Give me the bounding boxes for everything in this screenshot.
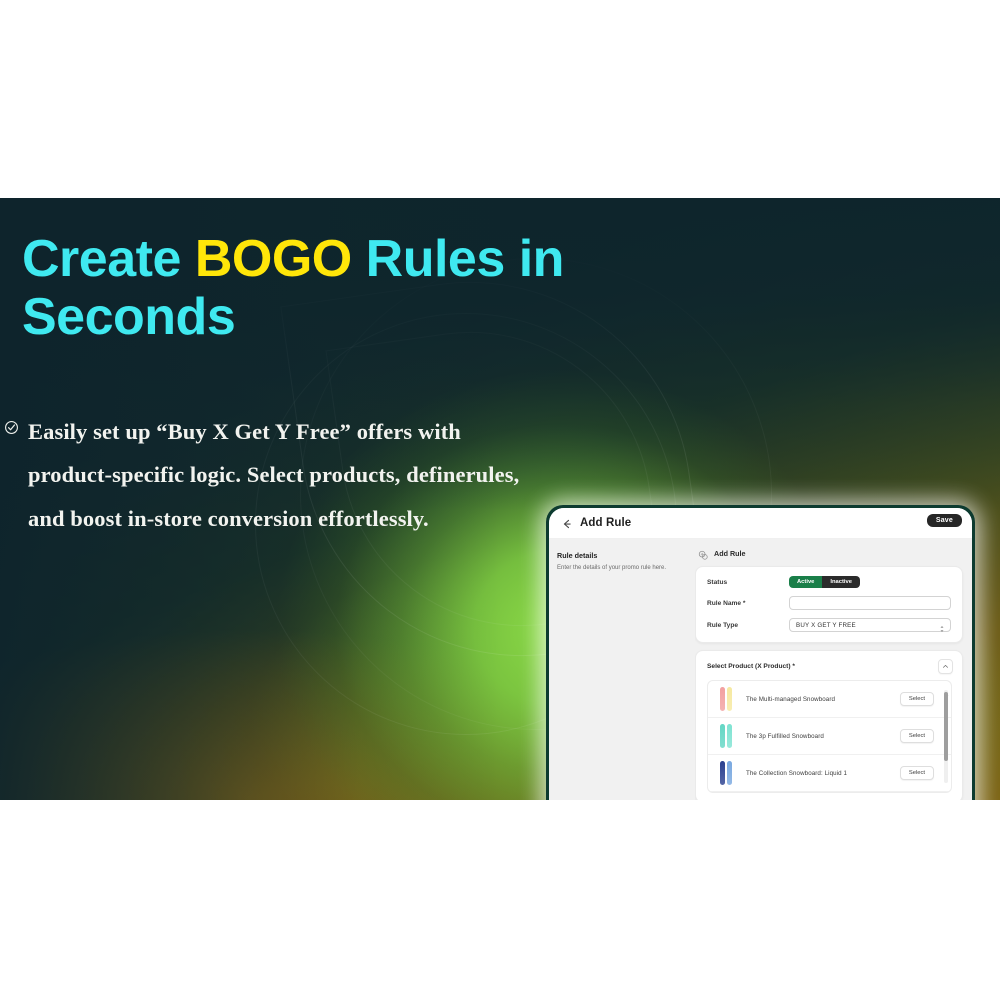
- snowboard-icon: [720, 687, 725, 711]
- rule-details-title: Rule details: [557, 551, 685, 560]
- rule-name-input[interactable]: [789, 596, 951, 610]
- status-option-inactive[interactable]: Inactive: [822, 576, 860, 588]
- rule-details-card: Status Active Inactive Rule Name * Rule …: [695, 566, 963, 643]
- product-picker-title: Select Product (X Product) *: [707, 663, 795, 670]
- select-product-button[interactable]: Select: [900, 729, 934, 743]
- rule-details-panel: Rule details Enter the details of your p…: [549, 539, 695, 800]
- promo-banner: Create BOGO Rules in Seconds Easily set …: [0, 198, 1000, 800]
- caret-up-icon[interactable]: [944, 684, 949, 689]
- product-picker-list: Select Product (X Product) *The Multi-ma…: [695, 650, 963, 800]
- headline-part-1: Create: [22, 230, 195, 288]
- rule-type-select[interactable]: BUY X GET Y FREE: [789, 618, 951, 632]
- product-picker-header: Select Product (X Product) *: [696, 651, 962, 680]
- rule-type-label: Rule Type: [707, 622, 789, 629]
- snowboard-icon: [727, 687, 732, 711]
- select-product-button[interactable]: Select: [900, 766, 934, 780]
- rule-form-column: Add Rule Status Active Inactive Rul: [695, 539, 972, 800]
- rule-type-select-wrap[interactable]: BUY X GET Y FREE: [789, 618, 951, 632]
- product-name: The Multi-managed Snowboard: [746, 696, 900, 703]
- snowboard-icon: [720, 724, 725, 748]
- feature-bullet-text: Easily set up “Buy X Get Y Free” offers …: [28, 410, 544, 540]
- rule-badge-icon: [698, 548, 709, 559]
- rule-name-row: Rule Name *: [707, 596, 951, 610]
- product-thumbnail: [714, 759, 738, 787]
- scrollbar-track[interactable]: [944, 690, 948, 783]
- status-toggle[interactable]: Active Inactive: [789, 576, 860, 588]
- status-label: Status: [707, 579, 789, 586]
- product-row: The Multi-managed SnowboardSelect: [708, 681, 951, 718]
- app-body: Rule details Enter the details of your p…: [549, 539, 972, 800]
- product-row: The 3p Fulfilled SnowboardSelect: [708, 718, 951, 755]
- product-list-scrollbar[interactable]: [943, 684, 949, 789]
- section-header: Add Rule: [698, 548, 963, 559]
- check-circle-icon: [4, 420, 19, 435]
- product-thumbnail: [714, 685, 738, 713]
- rule-type-row: Rule Type BUY X GET Y FREE: [707, 618, 951, 632]
- snowboard-icon: [727, 761, 732, 785]
- caret-down-icon[interactable]: [944, 784, 949, 789]
- status-row: Status Active Inactive: [707, 576, 951, 588]
- scrollbar-thumb[interactable]: [944, 692, 948, 761]
- section-header-label: Add Rule: [714, 549, 746, 558]
- app-window: Add Rule Save Rule details Enter the det…: [549, 508, 972, 800]
- product-list: The Multi-managed SnowboardSelectThe 3p …: [707, 680, 952, 793]
- app-topbar: Add Rule Save: [549, 508, 972, 539]
- feature-bullet: Easily set up “Buy X Get Y Free” offers …: [4, 410, 544, 540]
- status-option-active[interactable]: Active: [789, 576, 822, 588]
- save-button[interactable]: Save: [927, 514, 962, 527]
- arrow-left-icon[interactable]: [561, 517, 573, 529]
- rule-name-label: Rule Name *: [707, 600, 789, 607]
- product-name: The Collection Snowboard: Liquid 1: [746, 770, 900, 777]
- select-product-button[interactable]: Select: [900, 692, 934, 706]
- page-title: Create BOGO Rules in Seconds: [22, 230, 582, 346]
- rule-details-subtitle: Enter the details of your promo rule her…: [557, 564, 685, 573]
- snowboard-icon: [720, 761, 725, 785]
- app-screenshot-frame: Add Rule Save Rule details Enter the det…: [546, 505, 975, 800]
- app-page-title: Add Rule: [580, 517, 631, 529]
- chevron-updown-icon: [939, 621, 945, 630]
- product-thumbnail: [714, 722, 738, 750]
- headline-accent: BOGO: [195, 230, 352, 288]
- product-name: The 3p Fulfilled Snowboard: [746, 733, 900, 740]
- snowboard-icon: [727, 724, 732, 748]
- chevron-up-icon[interactable]: [938, 659, 953, 674]
- product-picker-card: Select Product (X Product) *The Multi-ma…: [695, 650, 963, 800]
- product-row: The Collection Snowboard: Liquid 1Select: [708, 755, 951, 792]
